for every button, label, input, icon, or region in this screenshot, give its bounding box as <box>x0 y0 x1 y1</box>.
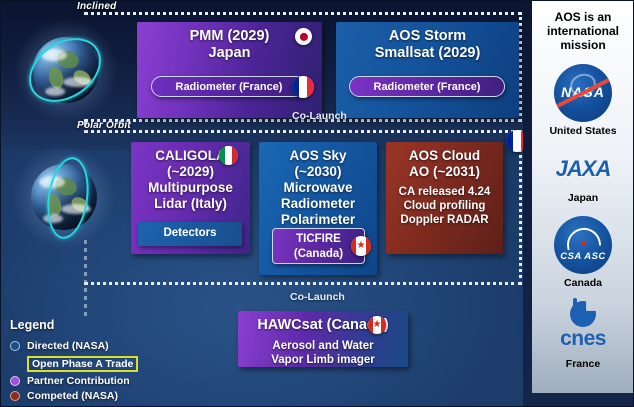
instrument-label: Detectors <box>163 227 216 239</box>
sidebar-title-line: mission <box>532 38 634 52</box>
italy-flag-icon <box>219 146 238 165</box>
card-title-line: Microwave <box>259 180 377 196</box>
card-body-line: Doppler RADAR <box>386 213 503 227</box>
instrument-label: Radiometer (France) <box>374 81 481 93</box>
japan-flag-icon <box>295 28 312 45</box>
legend-title: Legend <box>10 318 170 332</box>
card-body-line: Cloud profiling <box>386 199 503 213</box>
sidebar-title-line: international <box>532 24 634 38</box>
legend-swatch-partner <box>10 376 20 386</box>
card-title-line: Japan <box>137 45 322 62</box>
card-title-line: AOS Cloud <box>386 148 503 164</box>
mission-card-hawcsat[interactable]: HAWCsat (Canada) Aerosol and Water Vapor… <box>238 311 408 367</box>
card-body-line: CA released 4.24 <box>386 185 503 199</box>
agency-caption: France <box>532 358 634 370</box>
legend-swatch-directed <box>10 341 20 351</box>
sidebar-title-line: AOS is an <box>532 10 634 24</box>
legend-item-directed: Directed (NASA) <box>10 339 170 353</box>
card-title-line: AOS Storm <box>336 28 519 45</box>
colaunch-label-polar: Co-Launch <box>290 291 345 303</box>
france-flag-icon <box>292 76 314 98</box>
card-title-line: Lidar (Italy) <box>131 196 250 212</box>
agency-jaxa: JAXA Japan <box>532 149 634 204</box>
instrument-box-radiometer[interactable]: Radiometer (France) <box>349 76 505 97</box>
instrument-box-detectors[interactable]: Detectors <box>138 222 242 246</box>
agency-sidebar-panel: AOS is an international mission NASA Uni… <box>532 0 634 393</box>
mission-card-aos-sky[interactable]: AOS Sky (~2030) Microwave Radiometer Pol… <box>259 142 377 275</box>
cnes-logo-icon: cnes <box>532 301 634 355</box>
legend-label: Directed (NASA) <box>27 340 109 352</box>
legend-highlight-open-phase-a-trade[interactable]: Open Phase A Trade <box>27 356 138 372</box>
agency-nasa: NASA United States <box>532 64 634 137</box>
mission-card-pmm[interactable]: PMM (2029) Japan Radiometer (France) <box>137 22 322 118</box>
orbit-label-polar: Polar Orbit <box>77 120 131 131</box>
colaunch-label-inclined: Co-Launch <box>292 110 347 122</box>
agency-csa: ★ CSA ASC Canada <box>532 216 634 289</box>
card-title-line: AOS Sky <box>259 148 377 164</box>
card-title-line: (~2030) <box>259 164 377 180</box>
mission-card-aos-storm-smallsat[interactable]: AOS Storm Smallsat (2029) Radiometer (Fr… <box>336 22 519 118</box>
earth-globe-inclined <box>24 28 108 112</box>
legend-item-competed: Competed (NASA) <box>10 389 170 403</box>
card-title-line: Multipurpose <box>131 180 250 196</box>
instrument-label: Radiometer (France) <box>176 81 283 93</box>
instrument-box-radiometer[interactable]: Radiometer (France) <box>151 76 307 97</box>
legend-label: Competed (NASA) <box>27 390 118 402</box>
legend-item-partner: Partner Contribution <box>10 374 170 388</box>
cnes-wordmark: cnes <box>532 327 634 351</box>
card-title-line: AO (~2031) <box>386 164 503 180</box>
jaxa-logo-icon: JAXA <box>532 149 634 189</box>
agency-cnes: cnes France <box>532 301 634 370</box>
agency-sidebar: AOS is an international mission NASA Uni… <box>523 0 634 407</box>
card-title-line: (~2029) <box>131 164 250 180</box>
csa-logo-icon: ★ CSA ASC <box>554 216 612 274</box>
slide-root: Inclined Polar Orbit <box>0 0 634 407</box>
agency-caption: Canada <box>532 277 634 289</box>
orbit-label-inclined: Inclined <box>77 1 116 12</box>
mission-card-caligola[interactable]: CALIGOLA (~2029) Multipurpose Lidar (Ita… <box>131 142 250 254</box>
mission-card-aos-cloud[interactable]: AOS Cloud AO (~2031) CA released 4.24 Cl… <box>386 142 503 254</box>
csa-wordmark: CSA ASC <box>554 251 612 262</box>
diagram-panel: Inclined Polar Orbit <box>0 0 523 407</box>
earth-globe-polar <box>22 155 106 239</box>
orbit-tail-dots <box>84 240 87 320</box>
legend-swatch-competed <box>10 391 20 401</box>
canada-flag-icon: ★ <box>368 316 386 334</box>
card-title-line: Radiometer <box>259 196 377 212</box>
card-body-line: Aerosol and Water <box>238 339 408 353</box>
card-title-line: Smallsat (2029) <box>336 45 519 62</box>
card-title-line: Polarimeter <box>259 212 377 228</box>
canada-flag-icon: ★ <box>351 236 371 256</box>
agency-caption: United States <box>532 125 634 137</box>
legend: Legend Directed (NASA) Open Phase A Trad… <box>10 318 170 404</box>
card-body-line: Vapor Limb imager <box>238 353 408 367</box>
cnes-stem <box>573 298 577 312</box>
agency-caption: Japan <box>532 192 634 204</box>
maple-leaf-icon: ★ <box>579 238 588 249</box>
nasa-logo-icon: NASA <box>554 64 612 122</box>
legend-label: Partner Contribution <box>27 375 130 387</box>
